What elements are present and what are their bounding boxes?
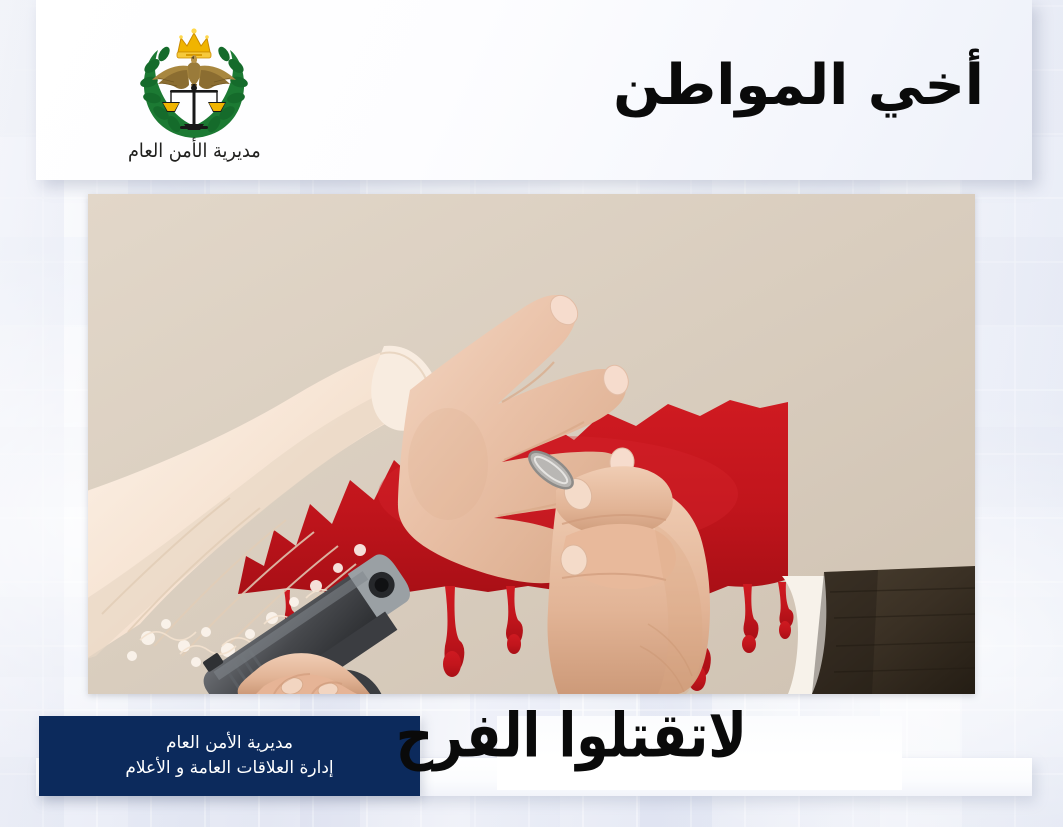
groom-suit-sleeve [782, 566, 975, 694]
campaign-photo [88, 194, 975, 694]
page-title: أخي المواطن [613, 58, 984, 114]
header-panel: مديرية الأمن العام أخي المواطن [36, 0, 1032, 180]
footer-line-1: مديرية الأمن العام [166, 733, 293, 754]
crown-icon [177, 28, 211, 58]
organization-logo: مديرية الأمن العام [124, 26, 264, 176]
footer-line-2: إدارة العلاقات العامة و الأعلام [125, 758, 333, 779]
photo-illustration [88, 194, 975, 694]
footer-banner: مديرية الأمن العام إدارة العلاقات العامة… [39, 716, 420, 796]
poster-root: مديرية الأمن العام أخي المواطن [0, 0, 1063, 827]
jordan-public-security-emblem-icon [134, 26, 254, 144]
campaign-slogan: لاتقتلوا الفرح [396, 706, 747, 767]
logo-caption: مديرية الأمن العام [128, 142, 261, 161]
